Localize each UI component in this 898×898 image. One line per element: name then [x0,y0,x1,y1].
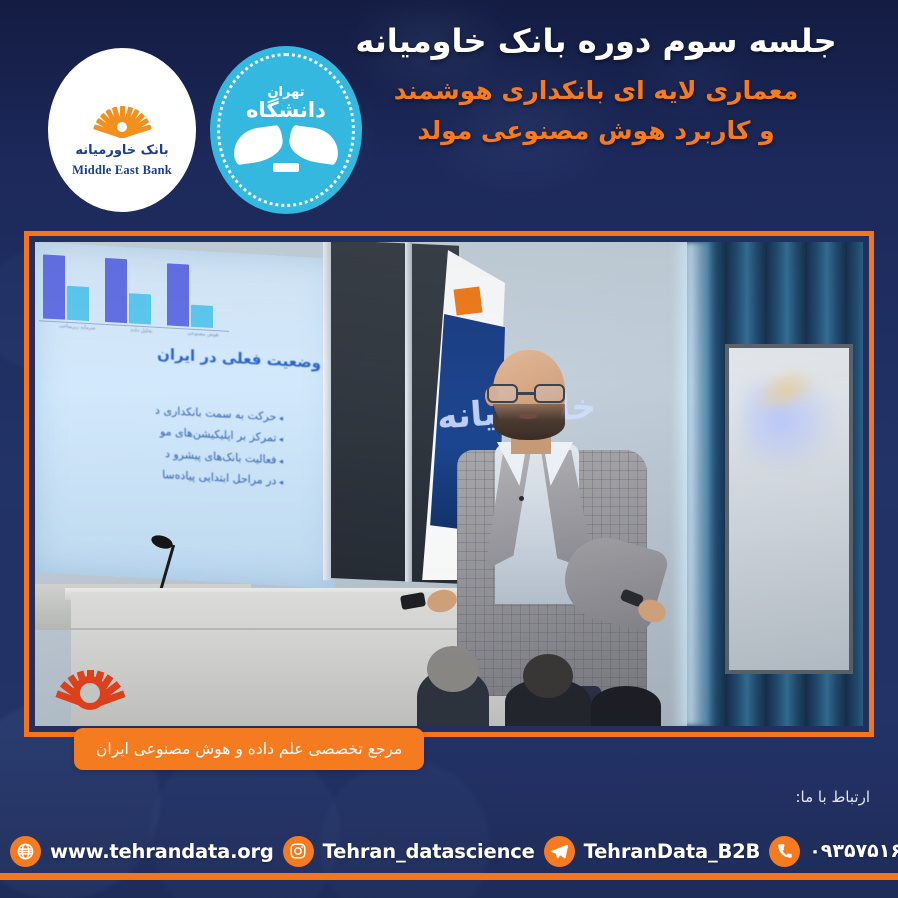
phone-number: ۰۹۳۵۷۵۱۶۷۵۴ [809,840,898,862]
slide-bar-chart [43,248,233,329]
ut-wordmark-main: دانشگاه [246,98,326,122]
flag-pole [405,242,412,582]
contact-item-telegram[interactable]: TehranData_B2B [544,836,770,867]
contact-item-phone[interactable]: ۰۹۳۵۷۵۱۶۷۵۴ [769,836,898,867]
instagram-handle: Tehran_datascience [323,840,535,863]
speaker-figure [445,350,705,726]
banner-flag-mark [454,287,483,316]
poster-root: تهران دانشگاه [0,0,898,898]
bottom-accent-bar [0,873,898,880]
sun-core [111,116,133,138]
event-photo-card: هوش مصنوعی تحلیل داده سرمایه زیرساخت وضع… [24,231,874,737]
sun-icon [87,82,157,138]
slide-tick-label: تحلیل داده [131,327,153,334]
photo-scene: هوش مصنوعی تحلیل داده سرمایه زیرساخت وضع… [35,242,863,726]
subtitle-line1: معماری لایه ای بانکداری هوشمند [318,75,874,108]
ut-wordmark: تهران دانشگاه [246,86,326,121]
page-title: جلسه سوم دوره بانک خاومیانه [318,22,874,61]
bank-name-fa: بانک خاورمیانه [75,143,168,158]
slide-bullet-list: حرکت به سمت بانکداری د تمرکز بر اپلیکیشن… [35,392,323,495]
lapel-microphone [519,496,524,501]
audience-head [523,654,573,698]
ut-wing-left [231,125,285,166]
bank-name-en: Middle East Bank [72,163,172,178]
eyeglasses-icon [487,384,565,403]
website-url: www.tehrandata.org [50,840,274,863]
contact-bar: www.tehrandata.org Tehran_datascience Te… [0,827,898,875]
phone-icon [769,836,800,867]
podium-bank-sun-icon [49,632,131,710]
audience-silhouette [591,686,661,726]
instagram-icon [283,836,314,867]
contact-item-instagram[interactable]: Tehran_datascience [283,836,544,867]
event-photo: هوش مصنوعی تحلیل داده سرمایه زیرساخت وضع… [35,242,863,726]
subtitle-line2: و کاربرد هوش مصنوعی مولد [318,115,874,148]
logo-group: تهران دانشگاه [48,46,362,214]
telegram-handle: TehranData_B2B [584,840,761,863]
slide-tick-label: سرمایه زیرساخت [59,323,96,331]
projected-slide: هوش مصنوعی تحلیل داده سرمایه زیرساخت وضع… [35,242,335,589]
tagline-badge: مرجع تخصصی علم داده و هوش مصنوعی ایران [74,728,424,770]
audience-head [427,646,479,692]
slide-heading: وضعیت فعلی در ایران [157,345,321,372]
contact-label: ارتباط با ما: [796,788,871,806]
ut-book-icon [273,163,299,172]
speaker-mouth [519,412,537,419]
speaker-beard [493,404,565,440]
globe-icon [10,836,41,867]
contact-item-website[interactable]: www.tehrandata.org [10,836,283,867]
telegram-icon [544,836,575,867]
title-block: جلسه سوم دوره بانک خاومیانه معماری لایه … [318,22,874,147]
middle-east-bank-logo: بانک خاورمیانه Middle East Bank [48,48,196,212]
poster-header: تهران دانشگاه [0,0,898,226]
slide-tick-label: هوش مصنوعی [187,331,218,339]
